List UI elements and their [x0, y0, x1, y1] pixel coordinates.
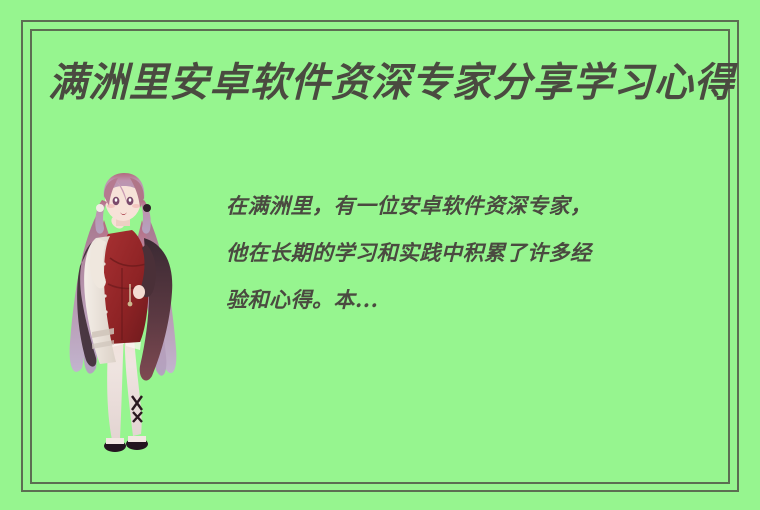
excerpt-line: 在满洲里，有一位安卓软件资深专家，: [226, 182, 718, 229]
article-card: 满洲里安卓软件资深专家分享学习心得: [0, 0, 760, 510]
excerpt-line: 验和心得。本...: [226, 276, 718, 323]
character-illustration: [52, 172, 200, 472]
excerpt-line: 他在长期的学习和实践中积累了许多经: [226, 229, 718, 276]
page-title: 满洲里安卓软件资深专家分享学习心得: [48, 58, 722, 112]
article-excerpt: 在满洲里，有一位安卓软件资深专家， 他在长期的学习和实践中积累了许多经 验和心得…: [226, 182, 718, 323]
